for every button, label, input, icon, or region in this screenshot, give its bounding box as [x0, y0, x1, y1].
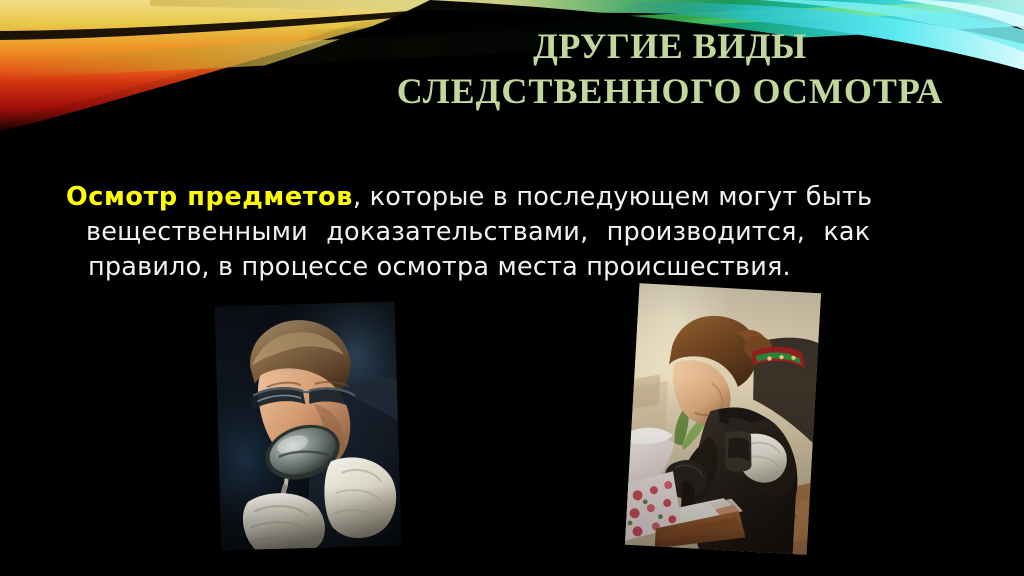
- body-line-3: правило, в процессе осмотра места происш…: [66, 250, 966, 285]
- photo-investigator-fingerprints: [625, 283, 821, 555]
- presentation-slide: ДРУГИЕ ВИДЫ СЛЕДСТВЕННОГО ОСМОТРА Осмотр…: [0, 0, 1024, 576]
- photo-right-graphic: [625, 283, 821, 555]
- slide-title: ДРУГИЕ ВИДЫ СЛЕДСТВЕННОГО ОСМОТРА: [330, 24, 1010, 114]
- body-line-1: Осмотр предметов, которые в последующем …: [66, 180, 966, 215]
- body-line-2: вещественными доказательствами, производ…: [66, 215, 966, 250]
- body-lead-term: Осмотр предметов: [66, 182, 353, 212]
- photo-left-graphic: [215, 302, 402, 551]
- body-line-1-rest: , которые в последующем могут быть: [353, 182, 872, 212]
- slide-body-text: Осмотр предметов, которые в последующем …: [66, 180, 966, 285]
- photo-investigator-magnifier: [215, 302, 402, 551]
- top-rainbow-band: [150, 0, 1024, 16]
- title-line-2: СЛЕДСТВЕННОГО ОСМОТРА: [330, 69, 1010, 114]
- title-line-1: ДРУГИЕ ВИДЫ: [330, 24, 1010, 69]
